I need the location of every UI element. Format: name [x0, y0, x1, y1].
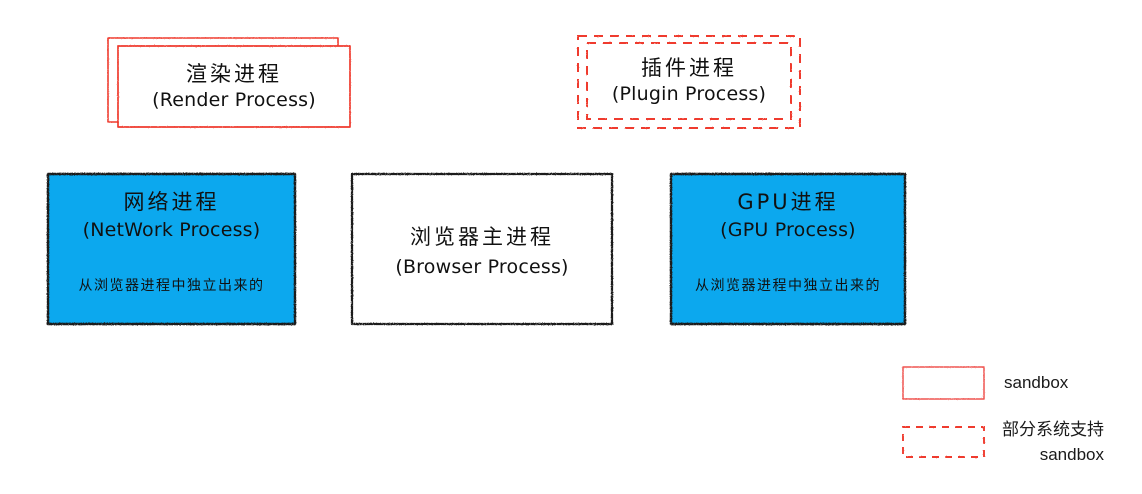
- plugin-process-box: 插件进程 (Plugin Process): [587, 43, 791, 119]
- legend-swatch-dashed-icon: [903, 427, 984, 457]
- gpu-process-box: GPU进程 (GPU Process) 从浏览器进程中独立出来的: [671, 174, 905, 324]
- legend-label-partial-sandbox-line1: 部分系统支持: [1002, 418, 1104, 443]
- gpu-process-note: 从浏览器进程中独立出来的: [671, 275, 905, 295]
- gpu-process-subtitle: (GPU Process): [671, 219, 905, 241]
- plugin-process-subtitle: (Plugin Process): [587, 83, 791, 105]
- legend-label-sandbox: sandbox: [1004, 373, 1068, 393]
- network-process-note: 从浏览器进程中独立出来的: [48, 275, 295, 295]
- render-process-title: 渲染进程: [118, 58, 350, 88]
- plugin-process-title: 插件进程: [587, 52, 791, 82]
- network-process-box: 网络进程 (NetWork Process) 从浏览器进程中独立出来的: [48, 174, 295, 324]
- browser-process-subtitle: (Browser Process): [352, 256, 612, 278]
- render-process-box: 渲染进程 (Render Process): [118, 46, 350, 127]
- network-process-subtitle: (NetWork Process): [48, 219, 295, 241]
- legend-label-partial-sandbox: 部分系统支持 sandbox: [1002, 418, 1104, 467]
- legend-swatch-solid-icon: [903, 367, 984, 399]
- browser-process-box: 浏览器主进程 (Browser Process): [352, 174, 612, 324]
- render-process-subtitle: (Render Process): [118, 89, 350, 111]
- browser-process-title: 浏览器主进程: [352, 221, 612, 251]
- gpu-process-title: GPU进程: [671, 186, 905, 216]
- legend-label-partial-sandbox-line2: sandbox: [1002, 443, 1104, 468]
- network-process-title: 网络进程: [48, 186, 295, 216]
